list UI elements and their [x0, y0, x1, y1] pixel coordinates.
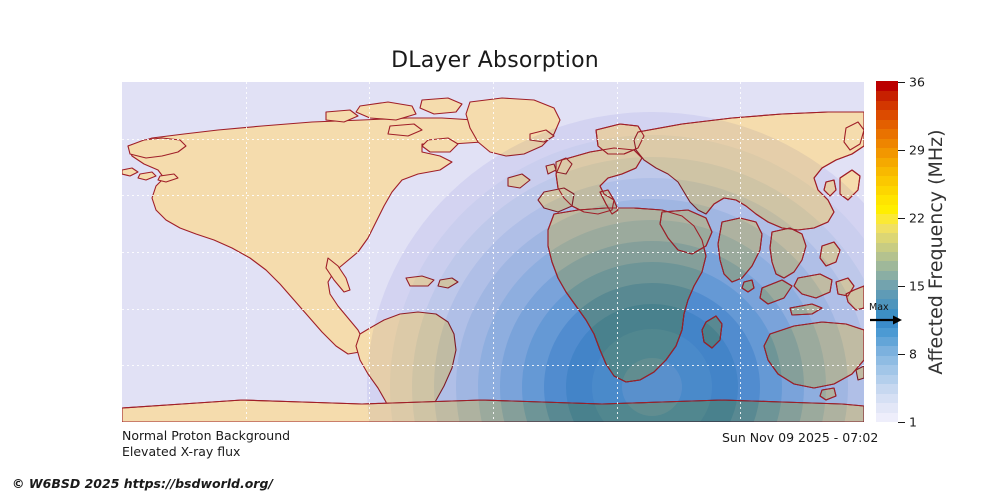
- colorbar-segment: [876, 166, 898, 176]
- coastline-overlay: [122, 82, 864, 422]
- colorbar-segment: [876, 214, 898, 224]
- world-map-plot[interactable]: [122, 82, 864, 422]
- max-arrow-icon: [869, 314, 903, 326]
- colorbar-tick: [898, 150, 905, 151]
- colorbar-tick-label: 22: [909, 211, 925, 226]
- colorbar-segment: [876, 336, 898, 346]
- page-title: DLayer Absorption: [0, 48, 990, 73]
- colorbar-max-marker: Max: [869, 303, 903, 327]
- colorbar-tick: [898, 82, 905, 83]
- colorbar-segment: [876, 195, 898, 205]
- colorbar-segment: [876, 100, 898, 110]
- colorbar-segment: [876, 280, 898, 290]
- colorbar-strip: [876, 82, 898, 422]
- status-line-1: Normal Proton Background: [122, 428, 290, 444]
- colorbar-segment: [876, 110, 898, 120]
- status-annotations: Normal Proton Background Elevated X-ray …: [122, 428, 290, 460]
- status-line-2: Elevated X-ray flux: [122, 444, 290, 460]
- timestamp: Sun Nov 09 2025 - 07:02: [722, 430, 878, 445]
- colorbar-segment: [876, 289, 898, 299]
- colorbar-tick: [898, 422, 905, 423]
- colorbar-segment: [876, 242, 898, 252]
- colorbar-tick-label: 29: [909, 143, 925, 158]
- colorbar-segment: [876, 119, 898, 129]
- colorbar-segment: [876, 374, 898, 384]
- dlayer-absorption-figure: DLayer Absorption: [0, 0, 1000, 500]
- colorbar-tick-label: 8: [909, 347, 917, 362]
- colorbar-segment: [876, 148, 898, 158]
- colorbar-segment: [876, 403, 898, 413]
- colorbar-segment: [876, 176, 898, 186]
- colorbar-segment: [876, 261, 898, 271]
- colorbar-segment: [876, 204, 898, 214]
- colorbar-segment: [876, 185, 898, 195]
- colorbar-tick: [898, 218, 905, 219]
- colorbar-segment: [876, 384, 898, 394]
- colorbar-segment: [876, 233, 898, 243]
- colorbar-segment: [876, 412, 898, 422]
- colorbar-segment: [876, 327, 898, 337]
- colorbar-segment: [876, 91, 898, 101]
- colorbar-segment: [876, 270, 898, 280]
- copyright-notice: © W6BSD 2025 https://bsdworld.org/: [12, 476, 273, 491]
- colorbar-segment: [876, 129, 898, 139]
- colorbar[interactable]: [876, 82, 898, 422]
- colorbar-segment: [876, 393, 898, 403]
- colorbar-segment: [876, 365, 898, 375]
- colorbar-segment: [876, 223, 898, 233]
- colorbar-segment: [876, 355, 898, 365]
- colorbar-segment: [876, 346, 898, 356]
- colorbar-segment: [876, 251, 898, 261]
- colorbar-tick-label: 36: [909, 75, 925, 90]
- colorbar-segment: [876, 138, 898, 148]
- colorbar-tick: [898, 354, 905, 355]
- max-label: Max: [869, 303, 903, 313]
- colorbar-tick: [898, 286, 905, 287]
- colorbar-tick-label: 15: [909, 279, 925, 294]
- colorbar-segment: [876, 81, 898, 91]
- colorbar-axis-label: Affected Frequency (MHz): [925, 82, 947, 422]
- colorbar-segment: [876, 157, 898, 167]
- colorbar-tick-label: 1: [909, 415, 917, 430]
